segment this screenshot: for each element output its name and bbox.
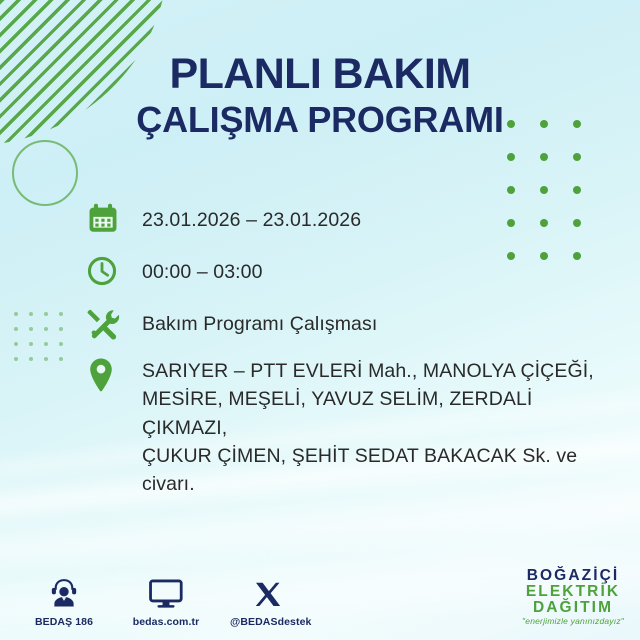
address-line-3: ÇUKUR ÇİMEN, ŞEHİT SEDAT BAKACAK Sk. ve … xyxy=(142,442,616,499)
logo-tagline: "enerjimizle yanınızdayız" xyxy=(522,617,624,626)
contact-website-label: bedas.com.tr xyxy=(128,616,204,628)
detail-row-time: 00:00 – 03:00 xyxy=(86,252,616,290)
maintenance-details: 23.01.2026 – 23.01.2026 00:00 – 03:00 xyxy=(86,200,616,498)
location-pin-icon xyxy=(86,356,124,394)
page-title: PLANLI BAKIM ÇALIŞMA PROGRAMI xyxy=(0,52,640,140)
logo-line-3: DAĞITIM xyxy=(522,600,624,616)
tools-icon xyxy=(86,304,124,342)
dot-grid-decoration-left xyxy=(14,312,74,372)
contact-twitter-label: @BEDASdestek xyxy=(230,616,306,628)
contact-twitter[interactable]: @BEDASdestek xyxy=(230,570,306,628)
title-line-2: ÇALIŞMA PROGRAMI xyxy=(0,101,640,140)
contact-phone-label: BEDAŞ 186 xyxy=(26,616,102,628)
footer-contacts: BEDAŞ 186 bedas.com.tr @BEDASdestek xyxy=(26,570,306,628)
address-text: SARIYER – PTT EVLERİ Mah., MANOLYA ÇİÇEĞ… xyxy=(142,356,616,498)
time-range-text: 00:00 – 03:00 xyxy=(142,252,263,286)
clock-icon xyxy=(86,252,124,290)
detail-row-worktype: Bakım Programı Çalışması xyxy=(86,304,616,342)
date-range-text: 23.01.2026 – 23.01.2026 xyxy=(142,200,361,234)
address-line-1: SARIYER – PTT EVLERİ Mah., MANOLYA ÇİÇEĞ… xyxy=(142,357,616,385)
company-logo: BOĞAZİÇİ ELEKTRİK DAĞITIM "enerjimizle y… xyxy=(522,568,624,626)
title-line-1: PLANLI BAKIM xyxy=(0,52,640,97)
circle-outline-decoration xyxy=(12,140,78,206)
contact-phone[interactable]: BEDAŞ 186 xyxy=(26,570,102,628)
planned-maintenance-poster: PLANLI BAKIM ÇALIŞMA PROGRAMI xyxy=(0,0,640,640)
logo-line-2: ELEKTRİK xyxy=(522,584,624,600)
monitor-icon xyxy=(128,570,204,610)
work-type-text: Bakım Programı Çalışması xyxy=(142,304,377,338)
support-agent-icon xyxy=(26,570,102,610)
contact-website[interactable]: bedas.com.tr xyxy=(128,570,204,628)
detail-row-address: SARIYER – PTT EVLERİ Mah., MANOLYA ÇİÇEĞ… xyxy=(86,356,616,498)
detail-row-date: 23.01.2026 – 23.01.2026 xyxy=(86,200,616,238)
address-line-2: MESİRE, MEŞELİ, YAVUZ SELİM, ZERDALİ ÇIK… xyxy=(142,385,616,442)
x-twitter-icon xyxy=(230,570,306,610)
logo-line-1: BOĞAZİÇİ xyxy=(522,568,624,584)
calendar-icon xyxy=(86,200,124,238)
